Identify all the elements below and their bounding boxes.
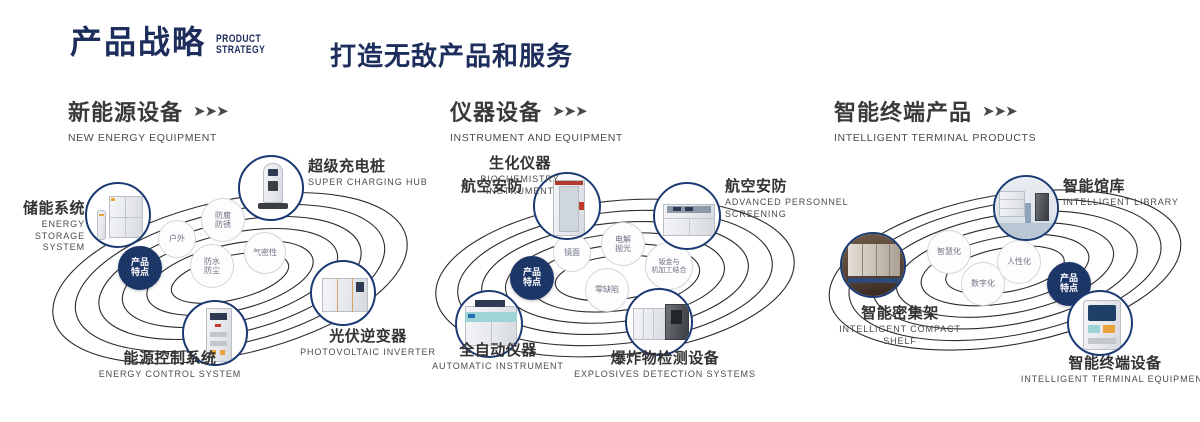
page-title-en: PRODUCT STRATEGY bbox=[216, 34, 265, 56]
chevron-right-icon: ➤➤➤ bbox=[552, 104, 587, 119]
chevron-right-icon: ➤➤➤ bbox=[193, 104, 228, 119]
core-bubble-product-features: 产品 特点 bbox=[118, 246, 162, 290]
product-label-terminal-kiosk: 智能终端设备 INTELLIGENT TERMINAL EQUIPMENT bbox=[1020, 355, 1200, 386]
smart-library-room-icon bbox=[995, 177, 1057, 239]
feature-bubble: 户外 bbox=[158, 220, 196, 258]
terminal-kiosk-icon bbox=[1069, 292, 1131, 354]
section-title-cn: 智能终端产品 bbox=[834, 95, 972, 127]
section-heading-new-energy: 新能源设备 ➤➤➤ NEW ENERGY EQUIPMENT bbox=[68, 95, 228, 144]
feature-bubble: 人性化 bbox=[997, 240, 1041, 284]
section-heading-instrument: 仪器设备 ➤➤➤ INSTRUMENT AND EQUIPMENT bbox=[450, 95, 623, 144]
feature-bubble: 防水 防尘 bbox=[190, 244, 234, 288]
product-label-biochemistry-instrument: 生化仪器 BIOCHEMISTRY INSTRUMENT bbox=[445, 155, 595, 197]
product-label-control-cabinet: 能源控制系统 ENERGY CONTROL SYSTEM bbox=[65, 350, 275, 381]
product-label-compact-shelf: 智能密集架 INTELLIGENT COMPACT SHELF bbox=[820, 305, 980, 347]
page-header: 产品战略 PRODUCT STRATEGY bbox=[70, 26, 279, 58]
section-title-cn: 新能源设备 bbox=[68, 95, 183, 127]
feature-bubble: 零缺陷 bbox=[585, 268, 629, 312]
compact-shelf-icon bbox=[842, 234, 904, 296]
product-label-explosives-detector: 爆炸物检测设备 EXPLOSIVES DETECTION SYSTEMS bbox=[565, 350, 765, 381]
product-node-pv-inverter[interactable] bbox=[310, 260, 376, 326]
product-node-energy-storage[interactable] bbox=[85, 182, 151, 248]
product-node-screening-machine[interactable] bbox=[653, 182, 721, 250]
product-label-smart-library: 智能馆库 INTELLIGENT LIBRARY bbox=[1063, 178, 1200, 209]
energy-storage-cabinet-icon bbox=[87, 184, 149, 246]
section-title-en: INSTRUMENT AND EQUIPMENT bbox=[450, 132, 623, 144]
feature-bubble: 电解 抛光 bbox=[601, 222, 645, 266]
chevron-right-icon: ➤➤➤ bbox=[982, 104, 1017, 119]
feature-bubble: 防腐 防锈 bbox=[201, 198, 245, 242]
product-node-terminal-kiosk[interactable] bbox=[1067, 290, 1133, 356]
product-node-smart-library[interactable] bbox=[993, 175, 1059, 241]
product-node-compact-shelf[interactable] bbox=[840, 232, 906, 298]
orbit-diagram-instrument: 镜面 电解 抛光 钣金与 机加工结合 零缺陷 产品 特点 航空安防 生化仪器 B… bbox=[425, 150, 805, 420]
section-title-en: INTELLIGENT TERMINAL PRODUCTS bbox=[834, 132, 1036, 144]
poster-canvas: 产品战略 PRODUCT STRATEGY 打造无敌产品和服务 新能源设备 ➤➤… bbox=[0, 0, 1200, 422]
section-title-cn: 仪器设备 bbox=[450, 95, 542, 127]
charging-pile-icon bbox=[240, 157, 302, 219]
page-subtitle: 打造无敌产品和服务 bbox=[330, 36, 573, 73]
section-heading-intelligent: 智能终端产品 ➤➤➤ INTELLIGENT TERMINAL PRODUCTS bbox=[834, 95, 1036, 144]
product-label-automatic-instrument: 全自动仪器 AUTOMATIC INSTRUMENT bbox=[413, 342, 583, 373]
explosive-detector-icon bbox=[627, 290, 691, 354]
feature-bubble: 智慧化 bbox=[927, 230, 971, 274]
orbit-diagram-intelligent: 智慧化 数字化 人性化 产品 特点 智能馆库 INTELLIGENT LIBRA… bbox=[815, 150, 1195, 420]
product-node-charging-pile[interactable] bbox=[238, 155, 304, 221]
orbit-diagram-new-energy: 户外 防腐 防锈 防水 防尘 气密性 产品 特点 储能系统 ENERGY STO… bbox=[40, 150, 420, 420]
page-title: 产品战略 bbox=[70, 26, 206, 58]
product-label-energy-storage: 储能系统 ENERGY STORAGE SYSTEM bbox=[0, 200, 85, 253]
screening-machine-icon bbox=[655, 184, 719, 248]
product-node-explosives-detector[interactable] bbox=[625, 288, 693, 356]
feature-bubble: 镜面 bbox=[553, 234, 591, 272]
section-title-en: NEW ENERGY EQUIPMENT bbox=[68, 132, 228, 144]
pv-inverter-cabinet-icon bbox=[312, 262, 374, 324]
feature-bubble: 气密性 bbox=[244, 232, 286, 274]
